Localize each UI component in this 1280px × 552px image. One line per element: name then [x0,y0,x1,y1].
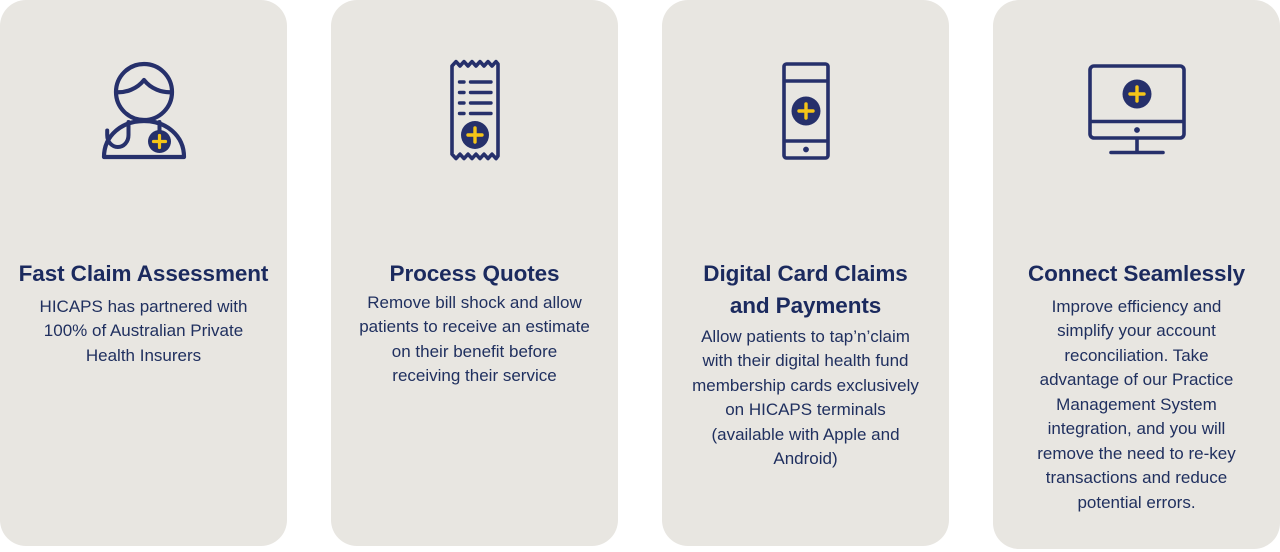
card-body: Allow patients to tap’n’claim with their… [690,325,922,472]
card-body: Improve efficiency and simplify your acc… [1026,295,1248,515]
card-title-block: Digital Card Claims and Payments [681,258,931,322]
feature-card-fast-claim-assessment[interactable]: Fast Claim Assessment HICAPS has partner… [0,0,287,546]
feature-card-digital-card-claims[interactable]: Digital Card Claims and Payments Allow p… [662,0,949,546]
desktop-monitor-icon [1087,56,1187,166]
doctor-avatar-icon [90,56,198,166]
card-title: Process Quotes [390,258,560,290]
mobile-phone-icon [776,56,836,166]
card-body: Remove bill shock and allow patients to … [359,291,591,389]
card-title-block: Process Quotes [390,258,560,290]
card-body: HICAPS has partnered with 100% of Austra… [38,295,250,368]
feature-card-connect-seamlessly[interactable]: Connect Seamlessly Improve efficiency an… [993,0,1280,549]
receipt-quote-icon [442,56,508,166]
card-title-block: Connect Seamlessly [1028,258,1245,290]
card-title: Fast Claim Assessment [19,258,269,290]
feature-cards-row: Fast Claim Assessment HICAPS has partner… [0,0,1280,552]
card-title: Connect Seamlessly [1028,258,1245,290]
card-title-block: Fast Claim Assessment [19,258,269,290]
feature-card-process-quotes[interactable]: Process Quotes Remove bill shock and all… [331,0,618,546]
card-title: Digital Card Claims and Payments [681,258,931,322]
